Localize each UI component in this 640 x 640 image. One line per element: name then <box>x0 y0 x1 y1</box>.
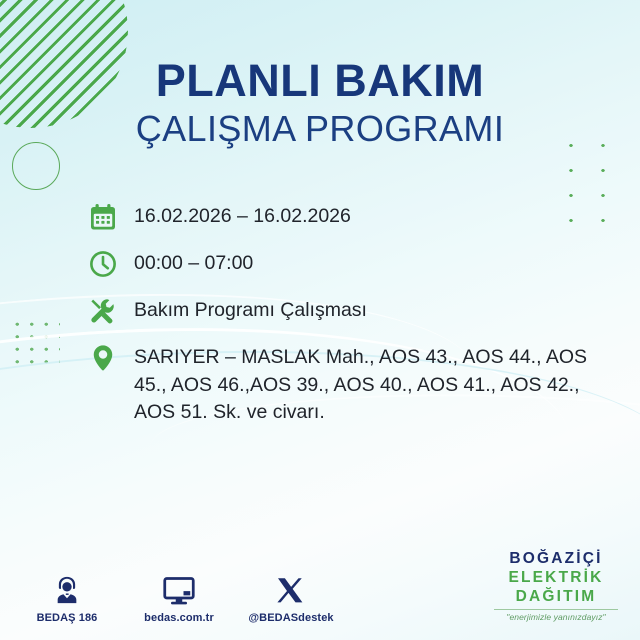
company-logo: BOĞAZİÇİ ELEKTRİK DAĞITIM "enerjimizle y… <box>490 550 622 622</box>
contact-phone[interactable]: BEDAŞ 186 <box>24 568 110 624</box>
brand-tagline: "enerjimizle yanınızdayız" <box>490 612 622 622</box>
poster-header: PLANLI BAKIM ÇALIŞMA PROGRAMI <box>0 58 640 149</box>
brand-line-1: BOĞAZİÇİ <box>490 550 622 569</box>
maintenance-location: SARIYER – MASLAK Mah., AOS 43., AOS 44.,… <box>134 341 614 427</box>
contact-phone-label: BEDAŞ 186 <box>24 612 110 624</box>
maintenance-date-range: 16.02.2026 – 16.02.2026 <box>134 200 351 231</box>
detail-row-time: 00:00 – 07:00 <box>86 247 614 281</box>
maintenance-details: 16.02.2026 – 16.02.2026 00:00 – 07:00 Ba… <box>86 200 614 427</box>
contact-channels: BEDAŞ 186 bedas.com.tr <box>24 568 334 624</box>
maintenance-time-range: 00:00 – 07:00 <box>134 247 253 278</box>
contact-x-label: @BEDASdestek <box>248 612 334 624</box>
brand-line-2: ELEKTRİK <box>490 569 622 588</box>
monitor-icon <box>136 568 222 606</box>
location-pin-icon <box>86 341 120 375</box>
contact-x-twitter[interactable]: @BEDASdestek <box>248 568 334 624</box>
maintenance-work-type: Bakım Programı Çalışması <box>134 294 367 325</box>
dot-grid-left-decoration <box>8 316 60 372</box>
poster-footer: BEDAŞ 186 bedas.com.tr <box>0 544 640 640</box>
brand-line-3: DAĞITIM <box>490 588 622 607</box>
detail-row-location: SARIYER – MASLAK Mah., AOS 43., AOS 44.,… <box>86 341 614 427</box>
contact-website-label: bedas.com.tr <box>136 612 222 624</box>
headset-support-icon <box>24 568 110 606</box>
page-subtitle: ÇALIŞMA PROGRAMI <box>0 108 640 149</box>
brand-divider <box>494 609 618 610</box>
x-twitter-icon <box>248 568 334 606</box>
contact-website[interactable]: bedas.com.tr <box>136 568 222 624</box>
tools-icon <box>86 294 120 328</box>
planned-maintenance-poster: PLANLI BAKIM ÇALIŞMA PROGRAMI <box>0 0 640 640</box>
detail-row-work-type: Bakım Programı Çalışması <box>86 294 614 328</box>
page-title: PLANLI BAKIM <box>0 58 640 104</box>
detail-row-date: 16.02.2026 – 16.02.2026 <box>86 200 614 234</box>
clock-icon <box>86 247 120 281</box>
calendar-icon <box>86 200 120 234</box>
